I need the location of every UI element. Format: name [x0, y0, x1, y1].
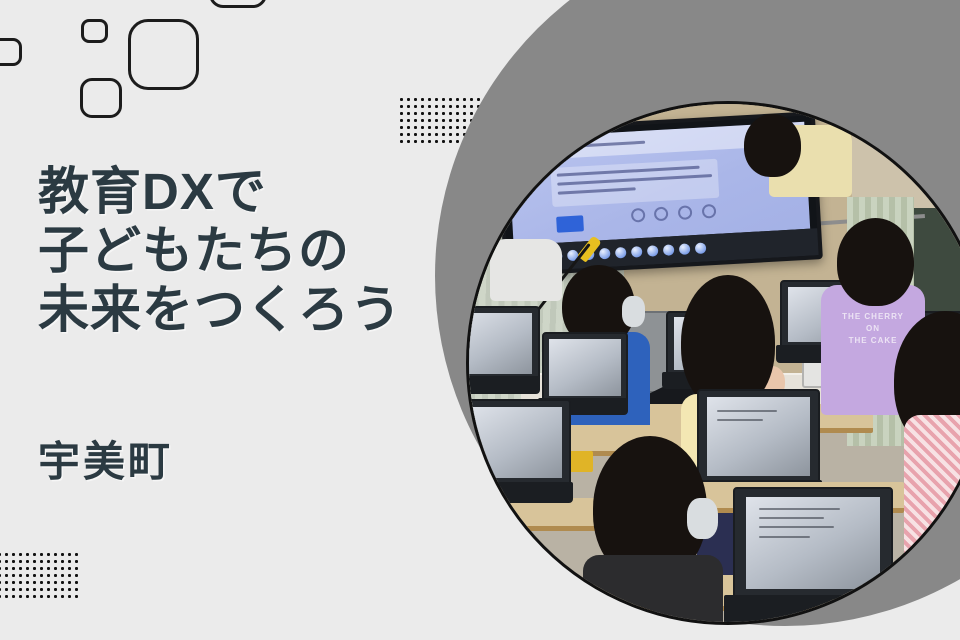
- laptop-lid: [469, 306, 540, 380]
- student-face-mask: [687, 498, 718, 539]
- screen-text-line: [717, 410, 776, 412]
- taskbar-app-icon: [646, 245, 658, 257]
- taskbar-app-icon: [630, 246, 642, 258]
- taskbar-app-icon: [599, 247, 611, 259]
- display-radio-option: [631, 208, 646, 223]
- screen-text-line: [759, 517, 823, 519]
- laptop-lid: [469, 399, 571, 486]
- laptop-screen: [469, 407, 562, 478]
- banner-canvas: THE CHERRYONTHE CAKE: [0, 0, 960, 640]
- laptop-base: [469, 482, 573, 503]
- screen-text-line: [759, 526, 834, 528]
- student-head: [837, 218, 915, 306]
- laptop-lid: [697, 389, 820, 484]
- page-title: 教育DXで 子どもたちの 未来をつくろう: [38, 162, 402, 339]
- laptop-base: [469, 376, 540, 394]
- student-body: [904, 415, 960, 601]
- student-face-mask: [622, 296, 645, 327]
- display-radio-option: [678, 205, 693, 220]
- student-laptop: [733, 487, 888, 622]
- student-body: [490, 239, 563, 301]
- student-laptop: [469, 306, 536, 394]
- laptop-screen: [549, 339, 620, 396]
- taskbar-app-icon: [662, 244, 674, 256]
- student-body: [583, 555, 723, 622]
- taskbar-app-icon: [694, 242, 706, 254]
- laptop-screen: [746, 497, 880, 589]
- laptop-lid: [733, 487, 892, 598]
- taskbar-app-icon: [615, 247, 627, 259]
- classroom-photo: THE CHERRYONTHE CAKE: [466, 101, 960, 625]
- laptop-lid: [542, 332, 629, 402]
- student-laptop: [469, 399, 567, 503]
- rounded-square-5-icon: [209, 0, 267, 8]
- display-radio-option: [702, 204, 717, 219]
- screen-text-line: [759, 508, 839, 510]
- dot-grid-bottom: [0, 551, 82, 599]
- screen-text-line: [717, 419, 762, 421]
- rounded-square-4-icon: [128, 19, 199, 90]
- display-radio-option: [654, 206, 669, 221]
- rounded-square-3-icon: [81, 19, 108, 43]
- page-subtitle: 宇美町: [38, 428, 173, 489]
- display-submit-button: [557, 215, 585, 232]
- rounded-square-2-icon: [80, 78, 122, 118]
- classroom-scene: THE CHERRYONTHE CAKE: [469, 104, 960, 622]
- taskbar-app-icon: [678, 243, 690, 255]
- rounded-square-1-icon: [0, 38, 22, 66]
- screen-text-line: [759, 536, 810, 538]
- laptop-base: [724, 595, 898, 622]
- laptop-screen: [707, 397, 809, 475]
- laptop-screen: [469, 313, 532, 374]
- student-head: [744, 114, 801, 176]
